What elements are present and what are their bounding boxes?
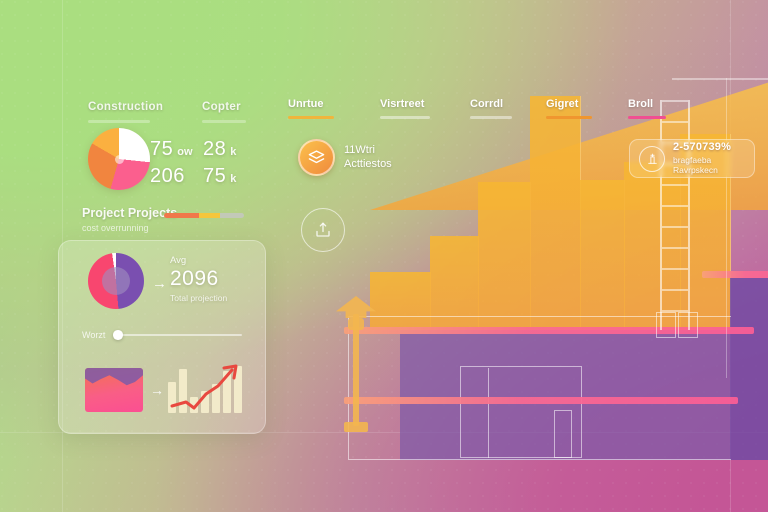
- ladder-base-box: [678, 312, 698, 338]
- tab-label: Visrtreet: [380, 98, 430, 110]
- column-header-rule: [88, 120, 150, 123]
- building-tower-wall: [730, 278, 768, 460]
- crane-jib: [672, 78, 768, 80]
- slider-label: Worzt: [82, 330, 105, 340]
- activity-label: 11Wtri Acttiestos: [344, 144, 392, 172]
- kpi-block: Avg 2096 Total projection: [170, 255, 227, 303]
- progress-segment: [220, 213, 244, 218]
- tab-underline: [628, 116, 666, 119]
- building-bar: [530, 96, 581, 330]
- scaffold-plank: [702, 271, 768, 278]
- activity-line-2: Acttiestos: [344, 158, 392, 172]
- metric-value: 206: [150, 165, 189, 188]
- slider-track[interactable]: [113, 334, 242, 337]
- tab-label: Corrdl: [470, 98, 512, 110]
- activity-badge[interactable]: 11Wtri Acttiestos: [298, 139, 392, 176]
- dashboard-canvas: Construction Copter Unrtue Visrtreet Cor…: [0, 0, 768, 512]
- tab-underline: [546, 116, 592, 119]
- tab-label: Gigret: [546, 98, 592, 110]
- upload-button[interactable]: [301, 208, 345, 252]
- column-header-rule: [202, 120, 246, 123]
- kpi-value: 2096: [170, 267, 227, 291]
- tab-bar: Unrtue Visrtreet Corrdl Gigret Broll: [288, 98, 708, 124]
- trend-arrow-icon: [166, 360, 246, 414]
- status-badge-caption: bragfaeba Ravrpskecn: [673, 155, 745, 176]
- page-title: Project Projects: [82, 206, 177, 220]
- ladder-base-box: [656, 312, 676, 338]
- tab-underline: [470, 116, 512, 119]
- lamp-post-icon: [336, 296, 376, 432]
- slider-row[interactable]: Worzt: [82, 330, 242, 340]
- status-badge-value: 2-570739%: [673, 141, 745, 155]
- layers-icon: [298, 139, 335, 176]
- crane-icon: [639, 146, 665, 172]
- status-badge[interactable]: 2-570739% bragfaeba Ravrpskecn: [629, 139, 755, 178]
- tab-label: Unrtue: [288, 98, 334, 110]
- kpi-sublabel: Total projection: [170, 293, 227, 303]
- project-header: Project Projects cost overrunning: [82, 206, 177, 233]
- arrow-right-icon: →: [150, 382, 164, 398]
- tab-label: Broll: [628, 98, 666, 110]
- progress-segments: [164, 213, 244, 218]
- crane-mast-line: [726, 78, 727, 378]
- tab-underline: [380, 116, 430, 119]
- upload-box-icon: [314, 221, 332, 239]
- tab-unrtue[interactable]: Unrtue: [288, 98, 334, 119]
- status-badge-text: 2-570739% bragfaeba Ravrpskecn: [673, 141, 745, 176]
- metric-value: 75k: [203, 165, 236, 188]
- column-header-copter: Copter: [202, 101, 241, 113]
- page-subtitle: cost overrunning: [82, 223, 177, 233]
- arrow-right-icon: →: [152, 275, 167, 292]
- construction-pie-chart: [88, 128, 150, 190]
- ladder-icon: [660, 100, 690, 330]
- tab-broll[interactable]: Broll: [628, 98, 666, 119]
- progress-segment: [199, 213, 220, 218]
- metric-value: 28k: [203, 138, 236, 161]
- area-chart-thumbnail: [85, 368, 143, 412]
- building-bar: [580, 180, 625, 330]
- kpi-label: Avg: [170, 255, 227, 266]
- scaffold-plank: [344, 397, 738, 404]
- tab-visrtreet[interactable]: Visrtreet: [380, 98, 430, 119]
- tab-underline: [288, 116, 334, 119]
- building-bar: [478, 182, 531, 330]
- metric-value: 75ow: [150, 138, 193, 161]
- activity-line-1: 11Wtri: [344, 144, 392, 158]
- column-header-construction: Construction: [88, 101, 163, 113]
- progress-segment: [164, 213, 199, 218]
- completion-donut-chart: [88, 253, 144, 309]
- tab-gigret[interactable]: Gigret: [546, 98, 592, 119]
- slider-knob[interactable]: [113, 330, 123, 340]
- tab-corrdl[interactable]: Corrdl: [470, 98, 512, 119]
